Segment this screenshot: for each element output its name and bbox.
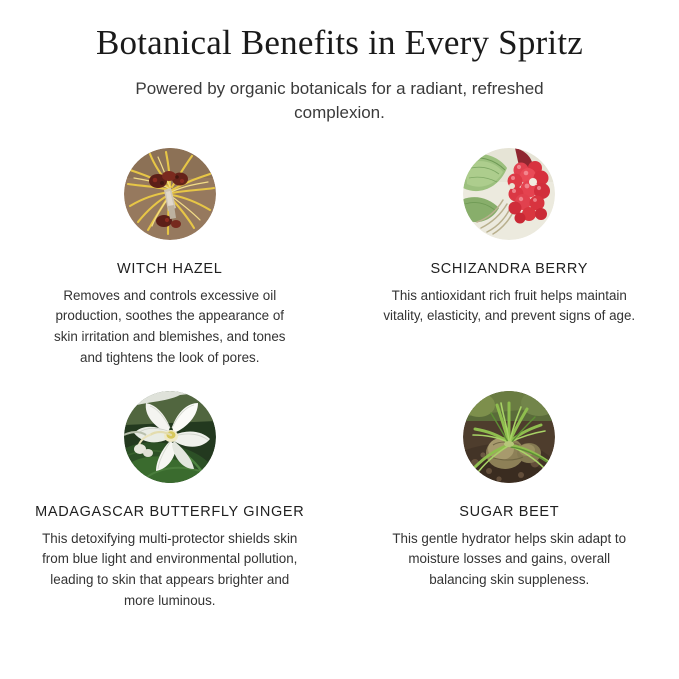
ingredient-description: This gentle hydrator helps skin adapt to… xyxy=(383,529,635,591)
ingredient-description: This detoxifying multi-protector shields… xyxy=(41,529,299,612)
ingredient-row-bottom: MADAGASCAR BUTTERFLY GINGER This detoxif… xyxy=(0,369,679,612)
ingredient-card-sugar-beet: SUGAR BEET This gentle hydrator helps sk… xyxy=(340,369,679,612)
ingredient-name: WITCH HAZEL xyxy=(117,261,222,277)
butterfly-ginger-photo xyxy=(124,391,216,483)
ingredient-card-butterfly-ginger: MADAGASCAR BUTTERFLY GINGER This detoxif… xyxy=(0,369,340,612)
page-header: Botanical Benefits in Every Spritz Power… xyxy=(0,0,679,126)
sugar-beet-photo xyxy=(463,391,555,483)
ingredient-row-top: WITCH HAZEL Removes and controls excessi… xyxy=(0,148,679,369)
ingredient-name: SCHIZANDRA BERRY xyxy=(430,261,588,277)
ingredient-description: Removes and controls excessive oil produ… xyxy=(44,286,296,369)
ingredient-name: MADAGASCAR BUTTERFLY GINGER xyxy=(35,504,304,520)
page-title: Botanical Benefits in Every Spritz xyxy=(0,22,679,63)
ingredient-description: This antioxidant rich fruit helps mainta… xyxy=(383,286,635,328)
ingredient-name: SUGAR BEET xyxy=(459,504,559,520)
ingredient-card-schizandra-berry: SCHIZANDRA BERRY This antioxidant rich f… xyxy=(340,148,679,369)
ingredient-card-witch-hazel: WITCH HAZEL Removes and controls excessi… xyxy=(0,148,340,369)
page-subtitle: Powered by organic botanicals for a radi… xyxy=(130,77,550,125)
schizandra-berry-photo xyxy=(463,148,555,240)
botanical-benefits-page: Botanical Benefits in Every Spritz Power… xyxy=(0,0,679,679)
witch-hazel-photo xyxy=(124,148,216,240)
ingredient-grid: WITCH HAZEL Removes and controls excessi… xyxy=(0,148,679,612)
